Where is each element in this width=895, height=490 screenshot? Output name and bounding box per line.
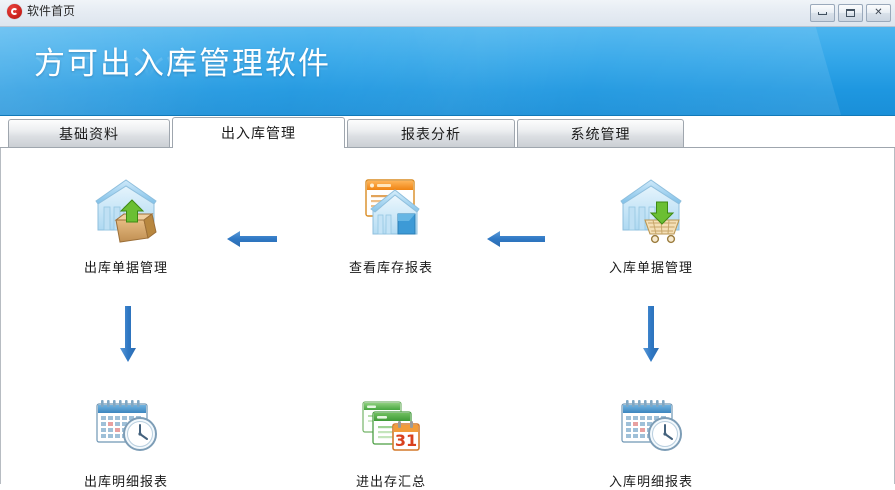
- banner-title: 方可出入库管理软件: [34, 46, 331, 82]
- tile-label: 出库明细报表: [41, 471, 211, 490]
- tile-inout-stock-summary[interactable]: 31 进出存汇总: [306, 386, 476, 490]
- tile-label: 入库明细报表: [566, 471, 736, 490]
- title-bar: 软件首页 ✕: [0, 0, 895, 27]
- tile-label: 入库单据管理: [566, 257, 736, 276]
- tile-inbound-document-management[interactable]: 入库单据管理: [566, 172, 736, 276]
- active-tab-connector: [173, 146, 344, 149]
- app-banner: 方可出入库管理软件 方可出入库管理软件: [0, 27, 895, 116]
- tile-view-stock-report[interactable]: 查看库存报表: [306, 172, 476, 276]
- warehouse-cart-in-icon: [566, 172, 736, 248]
- tab-content-panel: 出库单据管理: [0, 148, 895, 484]
- minimize-icon: [811, 5, 834, 21]
- close-icon: ✕: [867, 5, 890, 21]
- calendar-clock-blue-icon: [41, 386, 211, 462]
- tile-outbound-document-management[interactable]: 出库单据管理: [41, 172, 211, 276]
- calendar-clock-blue-icon: [566, 386, 736, 462]
- application-window: 软件首页 ✕ 方可出入库管理软件 方可出入库管理软件 基础资料 出入库管理 报表…: [0, 0, 895, 484]
- banner-sheen-right: [398, 27, 864, 116]
- app-logo-icon: [7, 4, 22, 19]
- tab-strip: 基础资料 出入库管理 报表分析 系统管理: [0, 117, 895, 147]
- window-controls: ✕: [810, 4, 891, 22]
- arrow-left-inbound-to-stock: [487, 228, 545, 254]
- tile-outbound-detail-report[interactable]: 出库明细报表: [41, 386, 211, 490]
- tab-inout-management[interactable]: 出入库管理: [172, 117, 345, 148]
- tile-label: 出库单据管理: [41, 257, 211, 276]
- warehouse-report-window-icon: [306, 172, 476, 248]
- green-windows-calendar-31-icon: 31: [306, 386, 476, 462]
- tab-strip-underline: [0, 147, 895, 148]
- title-bar-left: 软件首页: [7, 4, 75, 19]
- window-title: 软件首页: [27, 4, 75, 19]
- tab-basic-data[interactable]: 基础资料: [8, 119, 170, 147]
- tile-inbound-detail-report[interactable]: 入库明细报表: [566, 386, 736, 490]
- tile-label: 进出存汇总: [306, 471, 476, 490]
- tab-system-management[interactable]: 系统管理: [517, 119, 684, 147]
- arrow-down-inbound-to-report: [640, 306, 662, 366]
- maximize-button[interactable]: [838, 4, 863, 22]
- arrow-left-stock-to-outbound: [227, 228, 277, 254]
- tile-label: 查看库存报表: [306, 257, 476, 276]
- tab-report-analysis[interactable]: 报表分析: [347, 119, 515, 147]
- maximize-icon: [839, 5, 862, 21]
- svg-text:31: 31: [395, 431, 417, 450]
- warehouse-box-out-icon: [41, 172, 211, 248]
- close-button[interactable]: ✕: [866, 4, 891, 22]
- arrow-down-outbound-to-report: [117, 306, 139, 366]
- minimize-button[interactable]: [810, 4, 835, 22]
